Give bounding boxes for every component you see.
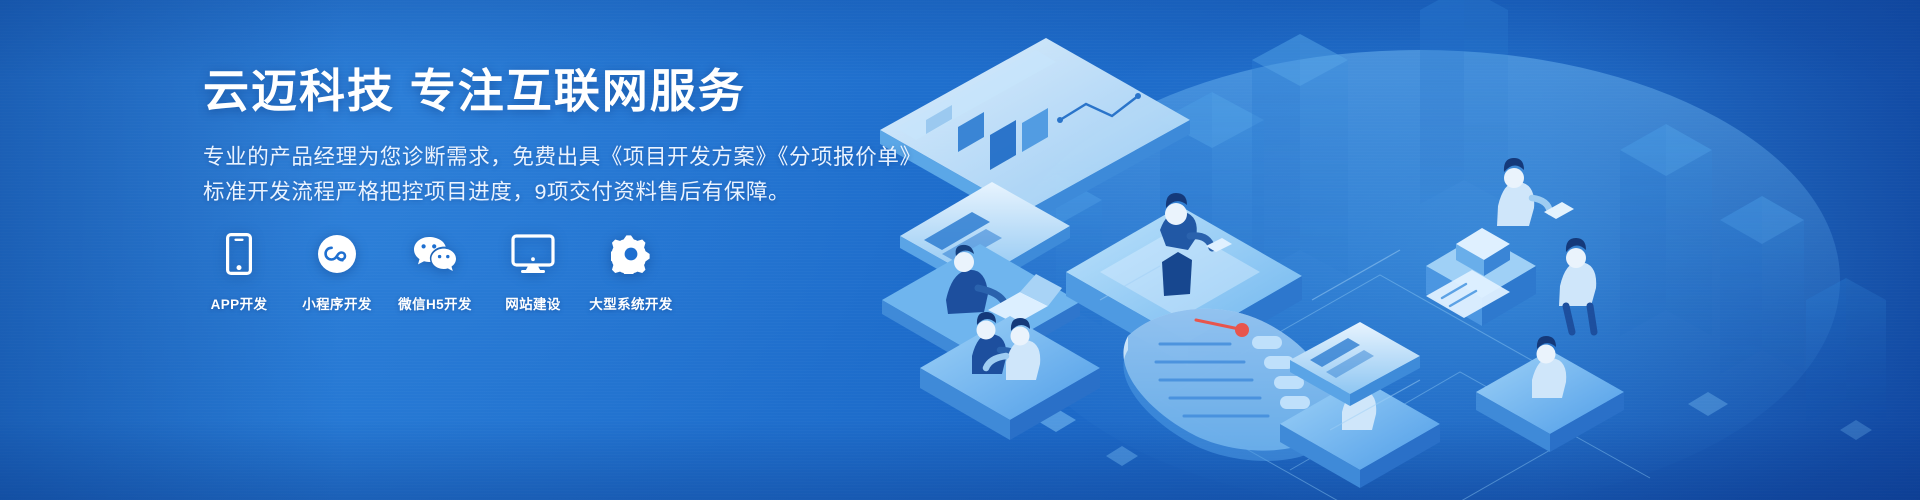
mobile-phone-icon [226, 232, 252, 276]
page-title: 云迈科技 专注互联网服务 [203, 68, 923, 114]
monitor-icon [511, 232, 555, 276]
subtitle-line-1: 专业的产品经理为您诊断需求，免费出具《项目开发方案》《分项报价单》 [203, 145, 922, 169]
hero-banner: 云迈科技 专注互联网服务 专业的产品经理为您诊断需求，免费出具《项目开发方案》《… [0, 0, 1920, 500]
banner-copy: 云迈科技 专注互联网服务 专业的产品经理为您诊断需求，免费出具《项目开发方案》《… [203, 68, 923, 210]
service-label: 微信H5开发 [398, 293, 472, 313]
service-label: APP开发 [211, 293, 268, 313]
isometric-tech-team-illustration [860, 0, 1920, 500]
service-item-large-system[interactable]: 大型系统开发 [595, 232, 667, 313]
service-item-wechat-h5[interactable]: 微信H5开发 [399, 232, 471, 313]
wechat-icon [412, 232, 458, 276]
service-label: 网站建设 [505, 293, 561, 313]
mini-program-icon [317, 232, 357, 276]
service-label: 大型系统开发 [589, 293, 672, 313]
gear-icon [611, 232, 651, 276]
banner-subtitle: 专业的产品经理为您诊断需求，免费出具《项目开发方案》《分项报价单》 标准开发流程… [203, 140, 923, 210]
service-item-website[interactable]: 网站建设 [497, 232, 569, 313]
service-label: 小程序开发 [302, 293, 372, 313]
service-item-mini-program[interactable]: 小程序开发 [301, 232, 373, 313]
service-list: APP开发 小程序开发 [203, 232, 667, 313]
service-item-app[interactable]: APP开发 [203, 232, 275, 313]
subtitle-line-2: 标准开发流程严格把控项目进度，9项交付资料售后有保障。 [203, 175, 923, 210]
